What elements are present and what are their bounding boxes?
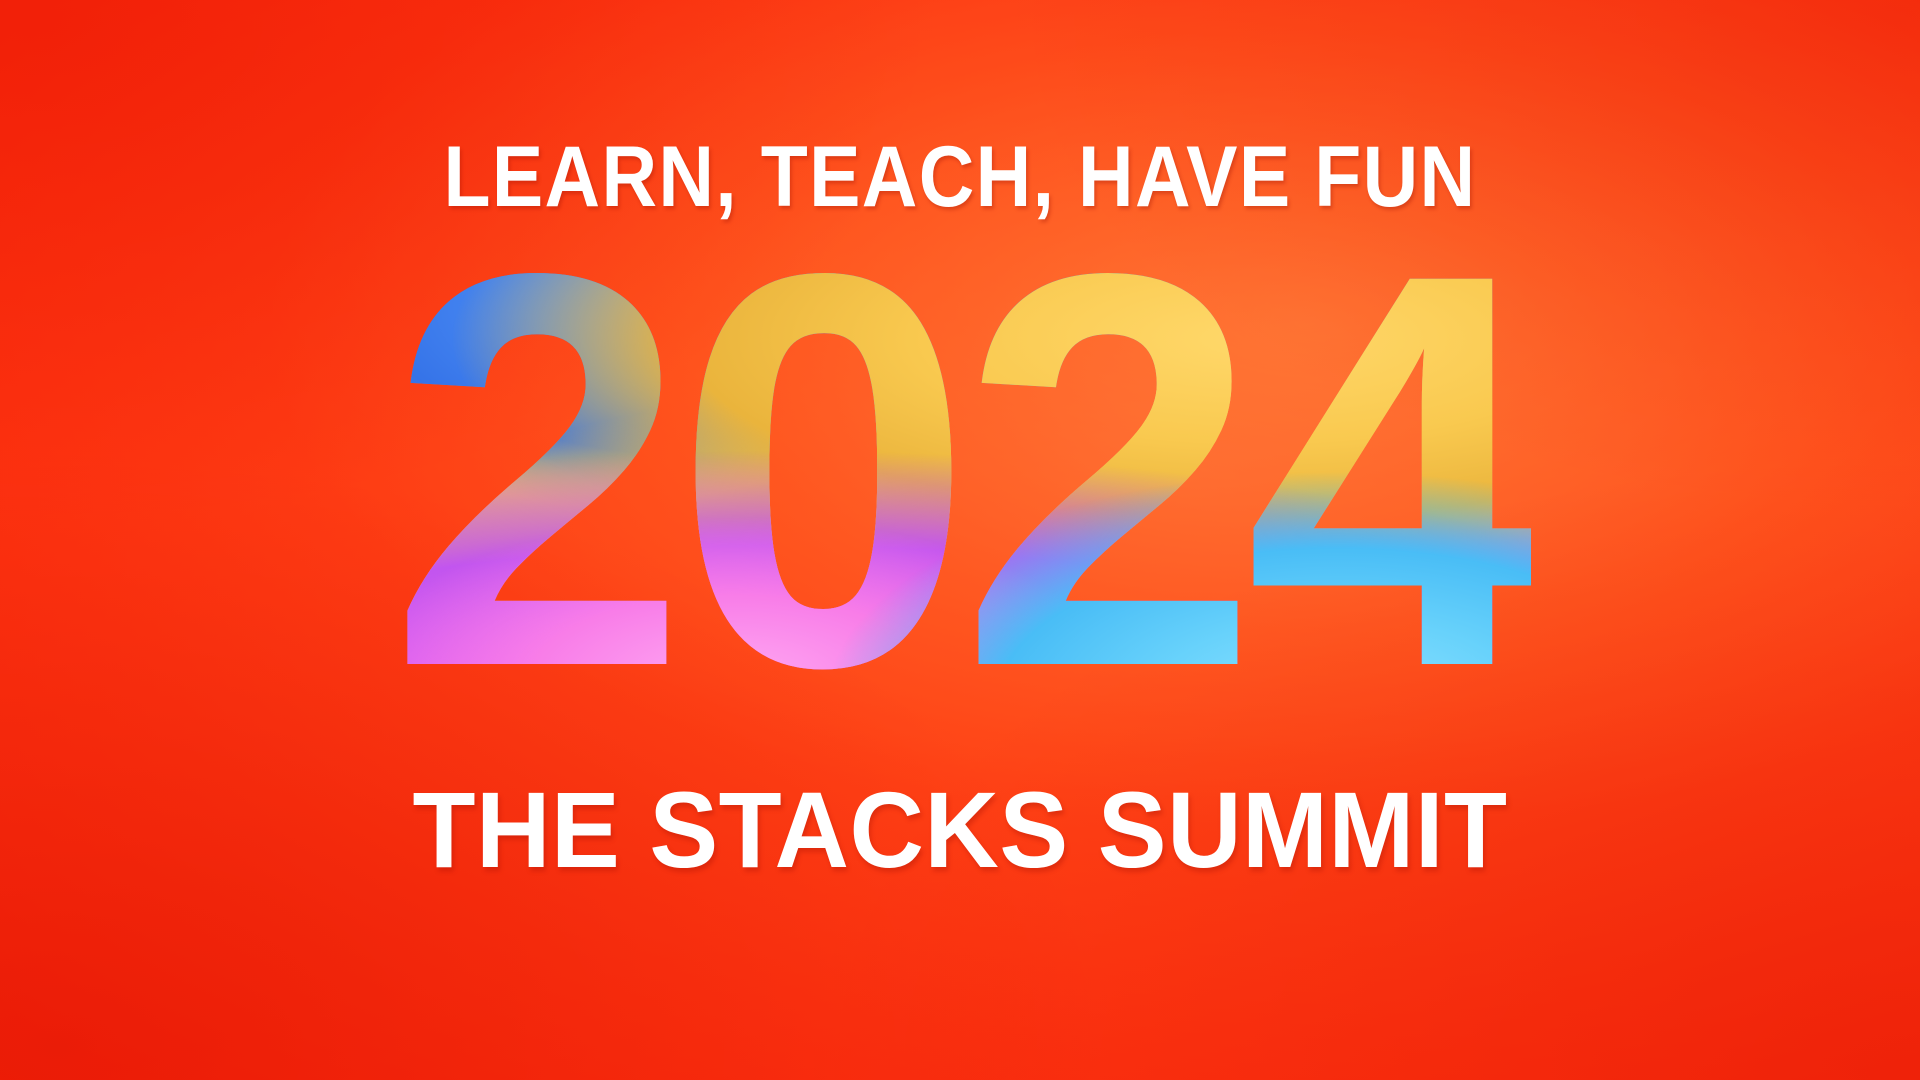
year-display: 2024 (0, 196, 1920, 756)
year-2024-text: 2024 (389, 196, 1531, 745)
event-title: THE STACKS SUMMIT (43, 776, 1877, 884)
poster-content: LEARN, TEACH, HAVE FUN 2024 THE STACKS S… (0, 0, 1920, 1080)
poster-canvas: LEARN, TEACH, HAVE FUN 2024 THE STACKS S… (0, 0, 1920, 1080)
